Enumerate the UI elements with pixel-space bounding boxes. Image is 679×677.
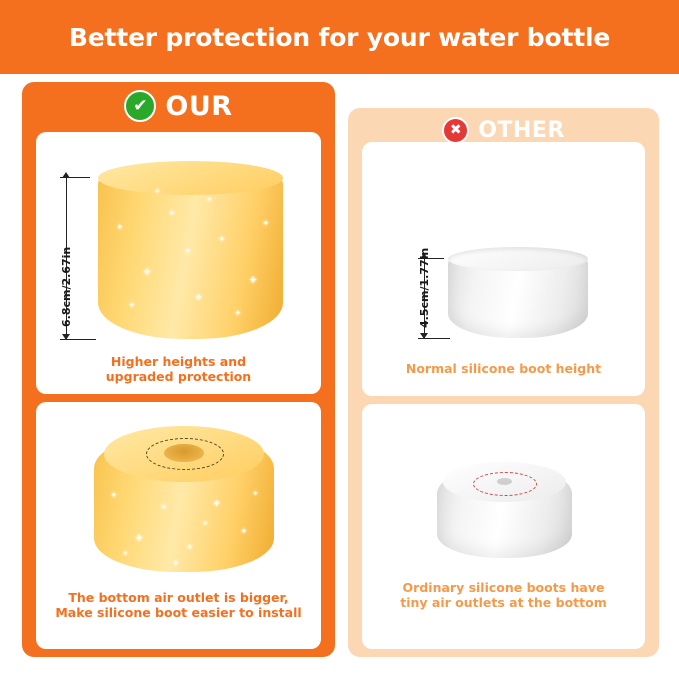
our-silicone-boot-tall: ✦ ✦ ✦ ✦ ✦ ✦ ✦ ✦ ✦ ✦ ✦ ✦ [98,174,283,339]
x-circle-icon: ✖ [442,117,469,144]
our-height-value: 6.8cm/2.67in [60,247,73,327]
other-caption-2-line2: tiny air outlets at the bottom [362,595,645,610]
other-air-outlet-hole [497,478,512,485]
other-panel-label: OTHER [478,118,565,143]
our-caption-1-line2: upgraded protection [36,369,321,384]
other-height-value: 4.5cm/1.77in [418,248,431,328]
header-banner: Better protection for your water bottle [0,0,679,74]
our-silicone-boot-bottom-view: ✦ ✦ ✦ ✦ ✦ ✦ ✦ ✦ ✦ ✦ [94,432,274,572]
our-air-outlet-hole [164,444,204,462]
product-comparison-graphic: Better protection for your water bottle … [0,0,679,677]
our-caption-2-line1: The bottom air outlet is bigger, [36,590,321,605]
our-caption-1-line1: Higher heights and [36,354,321,369]
other-caption-1-line1: Normal silicone boot height [362,361,645,376]
our-card-height: ✦ ✦ ✦ ✦ ✦ ✦ ✦ ✦ ✦ ✦ ✦ ✦ 6.8cm/2.67in Hig… [36,132,321,394]
other-silicone-boot-short [448,256,588,338]
our-caption-2-line2: Make silicone boot easier to install [36,605,321,620]
other-card-height: 4.5cm/1.77in Normal silicone boot height [362,142,645,396]
our-panel-label: OUR [165,91,232,122]
our-card-air-outlet: ✦ ✦ ✦ ✦ ✦ ✦ ✦ ✦ ✦ ✦ The bottom air outle… [36,402,321,649]
other-caption-2-line1: Ordinary silicone boots have [362,580,645,595]
check-circle-icon: ✔ [124,90,156,122]
our-panel-header: ✔ OUR [22,82,335,130]
page-title: Better protection for your water bottle [69,23,610,52]
other-silicone-boot-bottom-view [437,466,572,558]
other-card-air-outlet: Ordinary silicone boots have tiny air ou… [362,404,645,649]
